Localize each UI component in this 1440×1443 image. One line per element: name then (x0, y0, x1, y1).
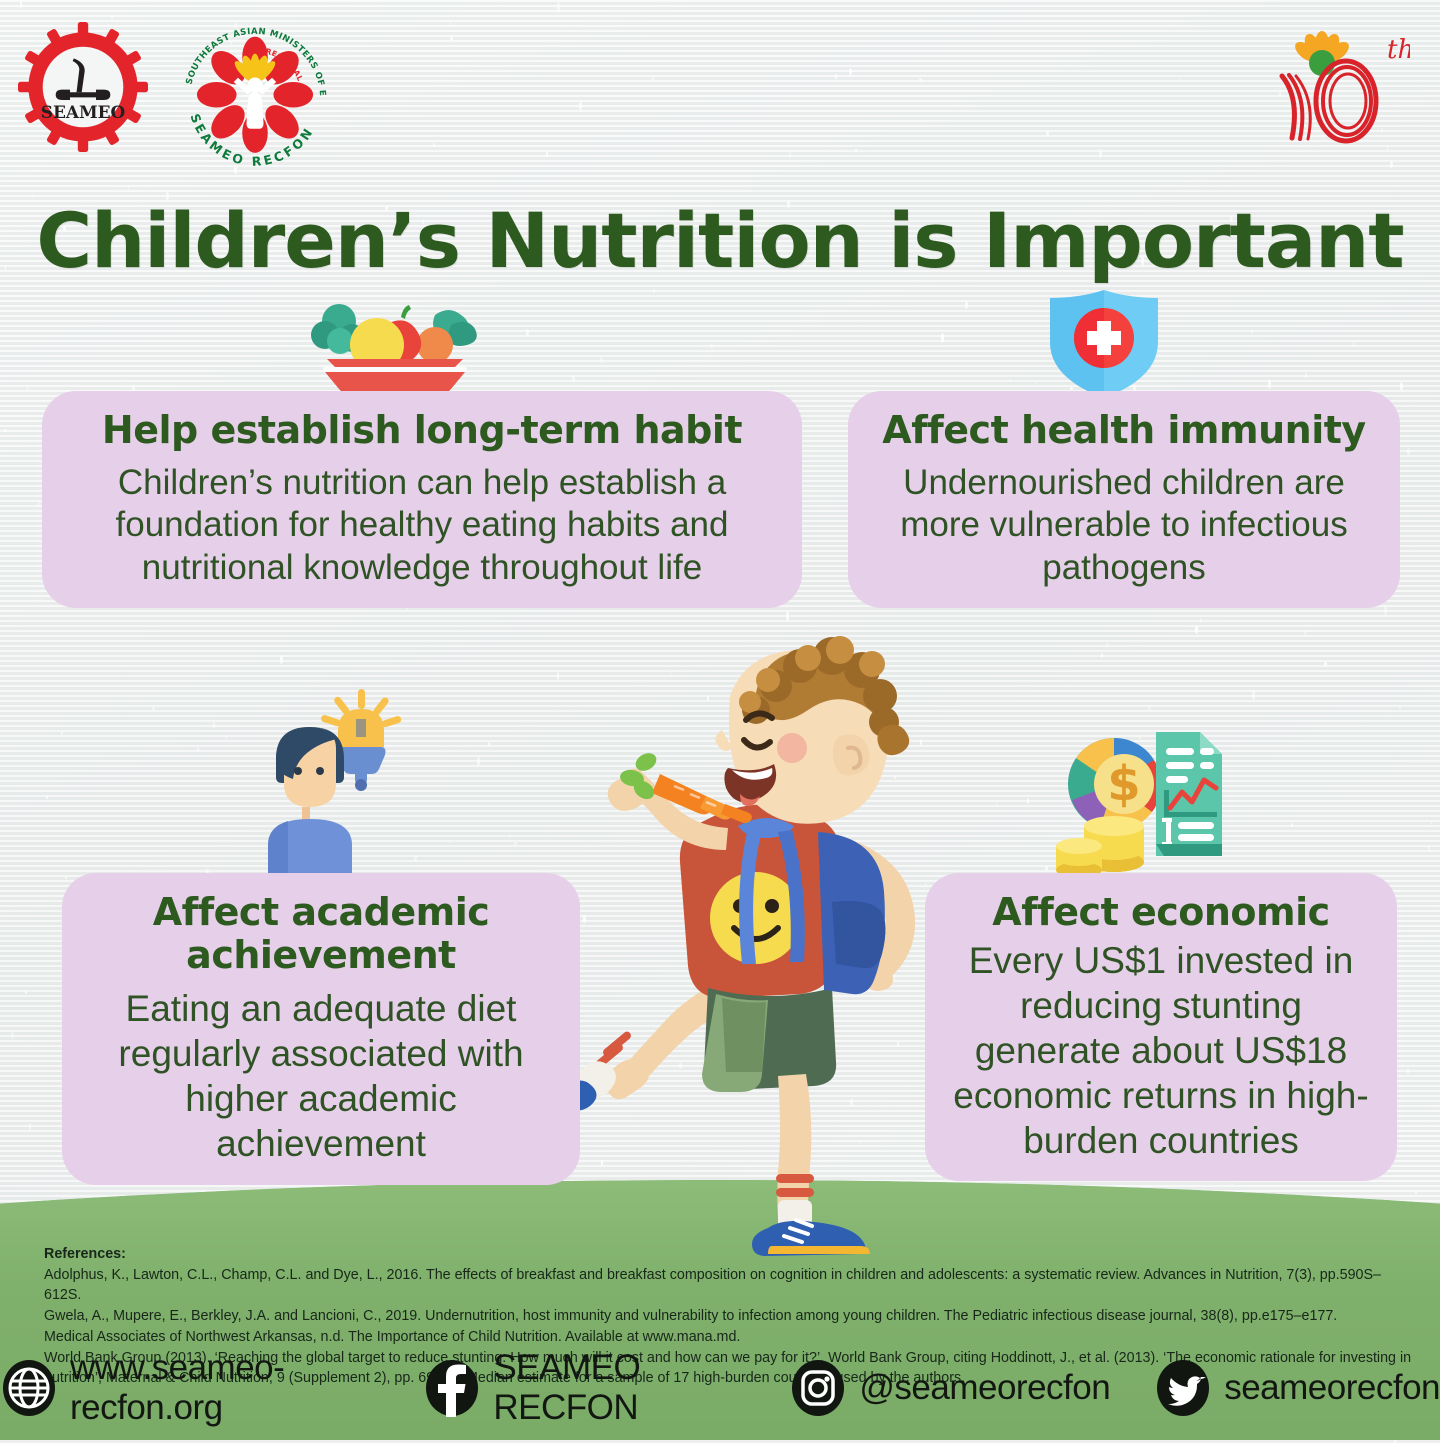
card-help-establish-long-term-habit: Help establish long-term habit Children’… (42, 391, 802, 608)
reference-item: Medical Associates of Northwest Arkansas… (44, 1327, 1414, 1348)
card-affect-academic-achievement: Affect academic achievement Eating an ad… (62, 873, 580, 1185)
dollar-sign: $ (1107, 756, 1140, 812)
card-body: Every US$1 invested in reducing stunting… (947, 938, 1375, 1164)
seameo-logo: SEAMEO (18, 22, 148, 152)
smiley-face-print (710, 872, 802, 964)
reference-item: Adolphus, K., Lawton, C.L., Champ, C.L. … (44, 1265, 1414, 1306)
card-heading: Affect economic (947, 891, 1375, 934)
anniversary-suffix: th (1387, 35, 1410, 65)
card-affect-economic: Affect economic Every US$1 invested in r… (925, 873, 1397, 1181)
footer-twitter[interactable]: seameorecfon (1154, 1359, 1440, 1417)
footer-website-label[interactable]: www.seameo-recfon.org (70, 1348, 379, 1428)
footer-facebook[interactable]: SEAMEO RECFON (423, 1348, 745, 1428)
tenth-anniversary-logo: th (1230, 18, 1410, 148)
ear-back-hair (877, 725, 909, 755)
card-affect-health-immunity: Affect health immunity Undernourished ch… (848, 391, 1400, 608)
anniversary-center-dot (1309, 50, 1335, 76)
eye-right (316, 767, 324, 775)
footer-facebook-label[interactable]: SEAMEO RECFON (493, 1348, 745, 1428)
footer-instagram-label[interactable]: @seameorecfon (859, 1368, 1110, 1408)
card-heading: Affect health immunity (870, 409, 1378, 452)
references-label: References: (44, 1244, 1414, 1265)
health-shield-icon (1043, 288, 1165, 400)
boy-with-carrot-illustration (540, 636, 960, 1261)
seameo-logo-text: SEAMEO (41, 102, 125, 122)
card-body: Children’s nutrition can help establish … (64, 462, 780, 590)
eye-left (294, 767, 302, 775)
blush (777, 733, 807, 763)
page-title: Children’s Nutrition is Important (0, 196, 1440, 285)
footer-instagram[interactable]: @seameorecfon (789, 1359, 1110, 1417)
card-heading: Help establish long-term habit (64, 409, 780, 452)
economic-chart-icon: $ (1052, 722, 1228, 880)
instagram-icon[interactable] (789, 1359, 847, 1417)
coin-stack-small (1056, 838, 1102, 878)
card-body: Undernourished children are more vulnera… (870, 462, 1378, 590)
footer-website[interactable]: www.seameo-recfon.org (0, 1348, 379, 1428)
reference-item: Gwela, A., Mupere, E., Berkley, J.A. and… (44, 1306, 1414, 1327)
card-heading: Affect academic achievement (84, 891, 558, 976)
footer-twitter-label[interactable]: seameorecfon (1224, 1368, 1440, 1408)
globe-icon[interactable] (0, 1359, 58, 1417)
idea-person-icon (258, 683, 434, 873)
facebook-icon[interactable] (423, 1359, 481, 1417)
twitter-icon[interactable] (1154, 1359, 1212, 1417)
social-footer: www.seameo-recfon.org SEAMEO RECFON @sea… (0, 1348, 1440, 1428)
ear (833, 735, 870, 776)
seameo-recfon-logo: SOUTHEAST ASIAN MINISTERS OF EDUCATION O… (170, 14, 340, 184)
document (1156, 732, 1222, 856)
fruit-bowl-icon (305, 283, 485, 401)
card-body: Eating an adequate diet regularly associ… (84, 986, 558, 1167)
